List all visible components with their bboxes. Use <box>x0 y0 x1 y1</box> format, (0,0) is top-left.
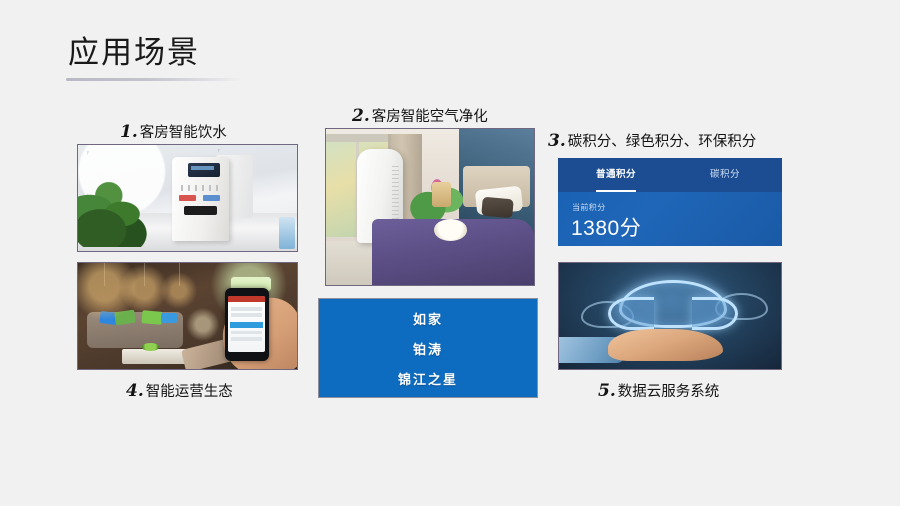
photo-1-dispenser-buttons <box>181 185 223 190</box>
current-points-value: 1380分 <box>571 212 641 242</box>
item-label-1: 客房智能饮水 <box>140 125 227 141</box>
photo-1-cold-indicator <box>203 195 221 201</box>
item-number-4: 4. <box>126 381 146 401</box>
photo-2-pillow-dark <box>481 196 514 217</box>
caption-item-1: 1.客房智能饮水 <box>120 121 227 142</box>
item-label-4: 智能运营生态 <box>146 384 233 400</box>
points-app-screenshot: 普通积分 碳积分 当前积分 1380分 <box>558 158 782 246</box>
item-number-5: 5. <box>598 381 618 401</box>
item-number-2: 2. <box>352 106 372 126</box>
photo-water-purifier <box>77 144 298 252</box>
photo-1-plant <box>77 181 161 247</box>
item-number-3: 3. <box>548 131 568 151</box>
caption-item-4: 4.智能运营生态 <box>126 380 233 401</box>
photo-4-phone-row-3 <box>231 331 262 335</box>
caption-item-3: 3.碳积分、绿色积分、环保积分 <box>548 130 756 151</box>
photo-4-phone-row-2 <box>231 313 262 317</box>
item-label-5: 数据云服务系统 <box>618 384 720 400</box>
photo-4-smartphone <box>225 288 269 360</box>
slide-canvas: 应用场景 1.客房智能饮水 2.客房智能空气净化 <box>0 0 900 506</box>
item-label-2: 客房智能空气净化 <box>372 109 488 125</box>
page-title: 应用场景 <box>68 34 200 73</box>
title-underline <box>66 78 242 81</box>
photo-1-bottle <box>279 217 294 249</box>
tab-normal-points[interactable]: 普通积分 <box>584 158 648 192</box>
photo-hotel-room-air-purifier <box>325 128 535 286</box>
brand-name-3: 锦江之星 <box>398 369 458 388</box>
photo-4-phone-row-4 <box>231 337 262 341</box>
caption-item-5: 5.数据云服务系统 <box>598 380 719 401</box>
photo-1-hot-indicator <box>179 195 197 201</box>
photo-4-phone-screen <box>228 296 265 352</box>
item-label-3: 碳积分、绿色积分、环保积分 <box>568 134 757 150</box>
item-number-1: 1. <box>120 122 140 142</box>
caption-item-2: 2.客房智能空气净化 <box>352 105 488 126</box>
photo-2-lamp <box>432 182 451 207</box>
photo-smart-living-room <box>77 262 298 370</box>
brand-name-2: 铂涛 <box>413 339 443 358</box>
hotel-brands-box: 如家 铂涛 锦江之星 <box>318 298 538 398</box>
photo-1-dispenser-display <box>188 163 221 177</box>
photo-4-phone-row-1 <box>231 307 262 311</box>
brand-name-1: 如家 <box>413 309 443 328</box>
photo-1-dispenser-spout <box>184 206 217 214</box>
tab-carbon-points[interactable]: 碳积分 <box>698 158 752 192</box>
photo-cloud-service <box>558 262 782 370</box>
photo-5-open-hand <box>608 329 723 361</box>
